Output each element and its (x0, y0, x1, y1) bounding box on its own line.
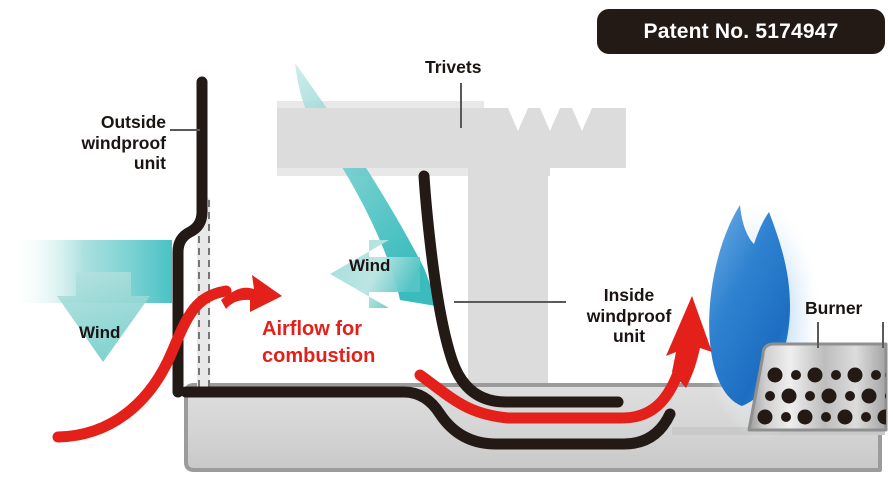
label-airflow-for-combustion: Airflow for combustion (262, 316, 412, 370)
burner (749, 344, 893, 430)
diagram-canvas: Patent No. 5174947 Outside windproof uni… (0, 0, 893, 489)
wind-arrow-left (12, 240, 172, 362)
label-wind-left: Wind (79, 323, 120, 343)
label-inside-windproof-unit: Inside windproof unit (570, 285, 688, 347)
label-burner: Burner (805, 298, 862, 319)
label-outside-windproof-unit: Outside windproof unit (52, 112, 166, 174)
label-wind-center: Wind (349, 256, 390, 276)
patent-badge-text: Patent No. 5174947 (643, 20, 838, 44)
patent-badge: Patent No. 5174947 (597, 9, 885, 54)
label-trivets: Trivets (425, 57, 481, 78)
